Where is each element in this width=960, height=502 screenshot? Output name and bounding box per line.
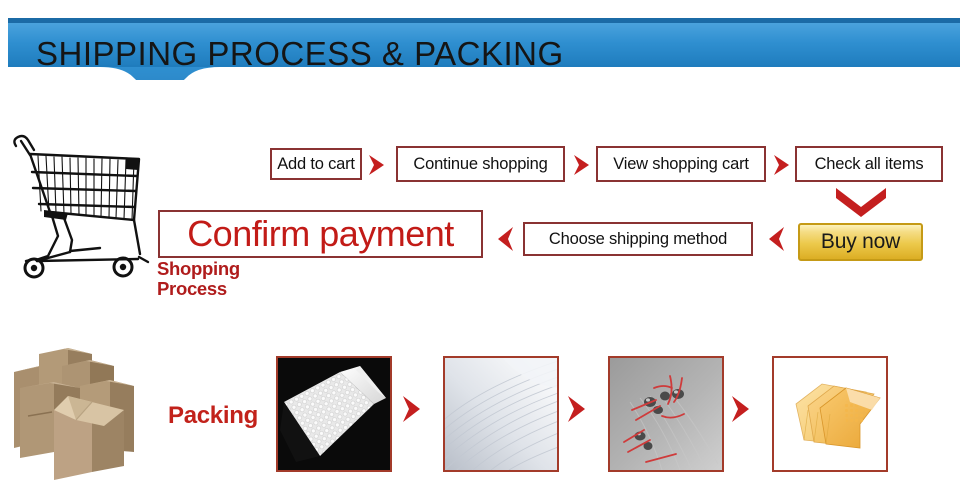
step-confirm-payment[interactable]: Confirm payment [158, 210, 483, 258]
padded-mailer-envelopes-photo [772, 356, 888, 472]
chevron-left-icon [491, 224, 517, 254]
shopping-process-section: Shopping Process [0, 118, 960, 288]
shopping-process-label-line1: Shopping [157, 259, 269, 279]
chevron-right-icon [365, 152, 391, 178]
page-title: SHIPPING PROCESS & PACKING [36, 37, 564, 70]
packing-label: Packing [168, 402, 258, 430]
bubble-wrap-roll-image [278, 358, 390, 470]
shopping-cart-icon [8, 128, 156, 280]
buy-now-button[interactable]: Buy now [798, 223, 923, 261]
padded-mailer-envelopes-image [774, 358, 886, 470]
step-add-to-cart[interactable]: Add to cart [270, 148, 362, 180]
chevron-right-icon [398, 393, 428, 425]
chevron-right-icon [727, 393, 757, 425]
chevron-right-icon [570, 152, 596, 178]
step-view-shopping-cart[interactable]: View shopping cart [596, 146, 766, 182]
step-choose-shipping-method[interactable]: Choose shipping method [523, 222, 753, 256]
step-check-all-items[interactable]: Check all items [795, 146, 943, 182]
chevron-down-icon [833, 185, 889, 219]
shopping-process-label: Shopping Process [157, 259, 269, 299]
shopping-process-label-line2: Process [157, 279, 269, 299]
cardboard-boxes-icon [6, 344, 166, 484]
wrapped-parts-photo [608, 356, 724, 472]
chevron-left-icon [762, 224, 788, 254]
chevron-right-icon [563, 393, 593, 425]
foam-wrap-sheet-photo [443, 356, 559, 472]
chevron-right-icon [770, 152, 796, 178]
step-continue-shopping[interactable]: Continue shopping [396, 146, 565, 182]
wrapped-parts-image [610, 358, 722, 470]
foam-wrap-sheet-image [445, 358, 557, 470]
bubble-wrap-roll-photo [276, 356, 392, 472]
page-header-banner: SHIPPING PROCESS & PACKING [0, 18, 960, 80]
